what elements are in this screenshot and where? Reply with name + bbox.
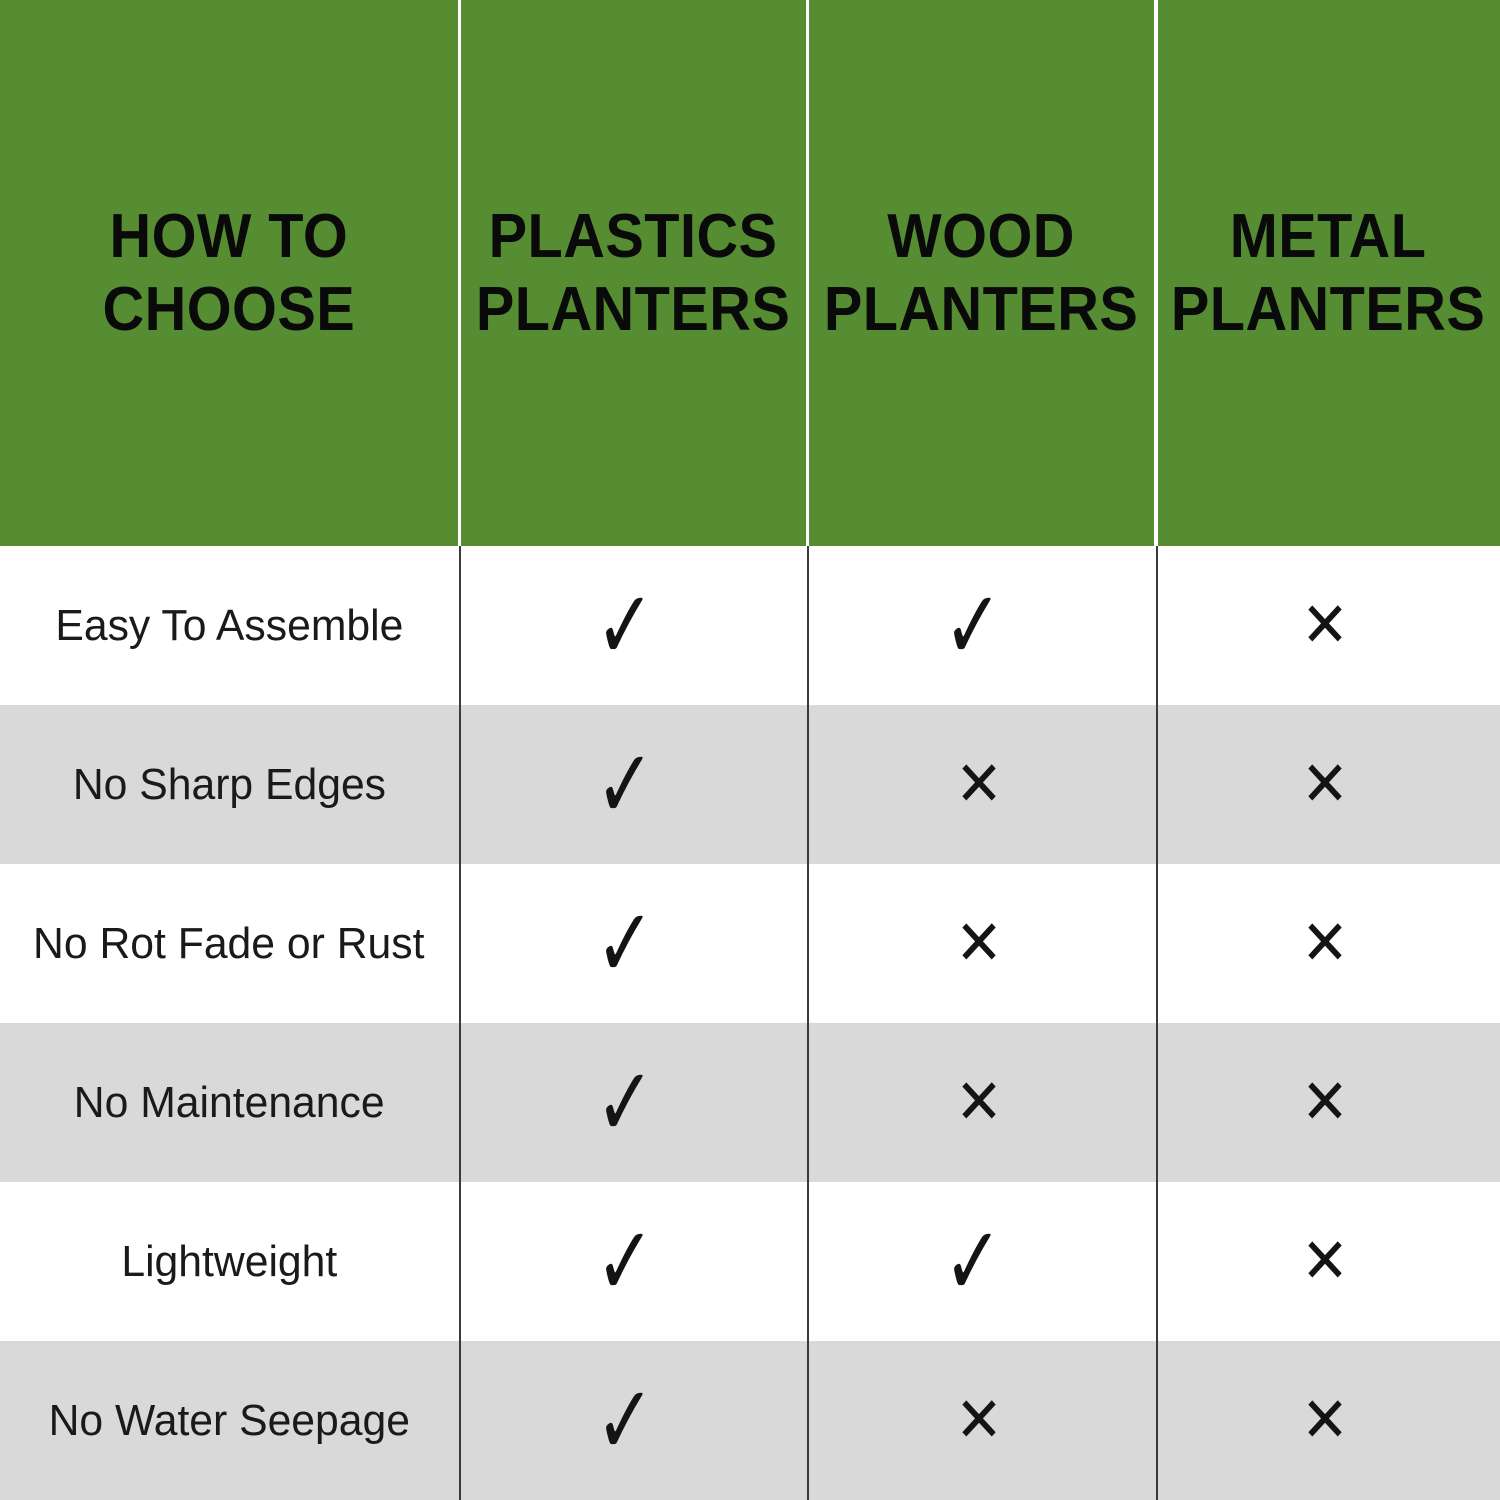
cell-wood-planters: ✓ [806,546,1155,705]
column-divider-3 [1156,546,1158,1500]
cell-metal-planters: ✕ [1155,705,1498,864]
row-label-cell: No Water Seepage [0,1341,458,1500]
status-cross-icon: ✕ [955,1072,1003,1134]
column-header-metal-planters: METAL PLANTERS [1156,0,1500,546]
cell-metal-planters: ✕ [1155,546,1498,705]
column-divider-1 [459,546,461,1500]
table-row: No Water Seepage ✓ ✕ ✕ [0,1341,1500,1500]
row-label-cell: No Maintenance [0,1023,458,1182]
cell-plastics-planters: ✓ [458,546,806,705]
column-header-criteria-label: HOW TO CHOOSE [103,200,356,346]
table-row: Lightweight ✓ ✓ ✕ [0,1182,1500,1341]
cell-metal-planters: ✕ [1155,864,1498,1023]
row-label-cell: Easy To Assemble [0,546,458,705]
status-check-icon: ✓ [944,1213,1003,1309]
cell-plastics-planters: ✓ [458,1023,806,1182]
column-header-plastics-planters: PLASTICS PLANTERS [460,0,806,546]
table-header-row: HOW TO CHOOSE PLASTICS PLANTERS WOOD PLA… [0,0,1500,546]
status-cross-icon: ✕ [1301,754,1349,816]
header-column-divider-3 [1156,0,1158,546]
table-row: No Sharp Edges ✓ ✕ ✕ [0,705,1500,864]
cell-wood-planters: ✓ [806,1182,1155,1341]
row-label-cell: No Sharp Edges [0,705,458,864]
row-label: No Maintenance [74,1078,385,1128]
header-column-divider-1 [459,0,461,546]
status-check-icon: ✓ [595,895,654,991]
status-cross-icon: ✕ [1301,1072,1349,1134]
row-label-cell: Lightweight [0,1182,458,1341]
row-label: No Sharp Edges [72,760,385,810]
status-check-icon: ✓ [595,736,654,832]
status-cross-icon: ✕ [1301,1390,1349,1452]
cell-metal-planters: ✕ [1155,1182,1498,1341]
row-label-cell: No Rot Fade or Rust [0,864,458,1023]
cell-plastics-planters: ✓ [458,1341,806,1500]
table-row: No Rot Fade or Rust ✓ ✕ ✕ [0,864,1500,1023]
cell-plastics-planters: ✓ [458,705,806,864]
cell-wood-planters: ✕ [806,864,1155,1023]
column-header-wood-planters: WOOD PLANTERS [808,0,1154,546]
cell-plastics-planters: ✓ [458,1182,806,1341]
table-body: Easy To Assemble ✓ ✓ ✕ No Sharp Edges ✓ … [0,546,1500,1500]
status-check-icon: ✓ [595,1054,654,1150]
comparison-table: HOW TO CHOOSE PLASTICS PLANTERS WOOD PLA… [0,0,1500,1500]
column-header-plastics-planters-label: PLASTICS PLANTERS [476,200,790,346]
status-check-icon: ✓ [595,1372,654,1468]
header-column-divider-2 [807,0,809,546]
status-check-icon: ✓ [944,577,1003,673]
cell-metal-planters: ✕ [1155,1023,1498,1182]
status-cross-icon: ✕ [955,754,1003,816]
column-header-metal-planters-label: METAL PLANTERS [1171,200,1485,346]
cell-metal-planters: ✕ [1155,1341,1498,1500]
status-check-icon: ✓ [595,1213,654,1309]
row-label: No Water Seepage [48,1396,409,1446]
row-label: Easy To Assemble [55,601,403,651]
status-cross-icon: ✕ [1301,1231,1349,1293]
column-header-wood-planters-label: WOOD PLANTERS [824,200,1138,346]
cell-wood-planters: ✕ [806,705,1155,864]
column-header-criteria: HOW TO CHOOSE [0,0,458,546]
status-cross-icon: ✕ [955,1390,1003,1452]
row-label: No Rot Fade or Rust [33,919,424,969]
cell-plastics-planters: ✓ [458,864,806,1023]
status-cross-icon: ✕ [1301,913,1349,975]
cell-wood-planters: ✕ [806,1341,1155,1500]
row-label: Lightweight [121,1237,337,1287]
table-row: Easy To Assemble ✓ ✓ ✕ [0,546,1500,705]
table-row: No Maintenance ✓ ✕ ✕ [0,1023,1500,1182]
status-check-icon: ✓ [595,577,654,673]
status-cross-icon: ✕ [1301,595,1349,657]
status-cross-icon: ✕ [955,913,1003,975]
column-divider-2 [807,546,809,1500]
cell-wood-planters: ✕ [806,1023,1155,1182]
